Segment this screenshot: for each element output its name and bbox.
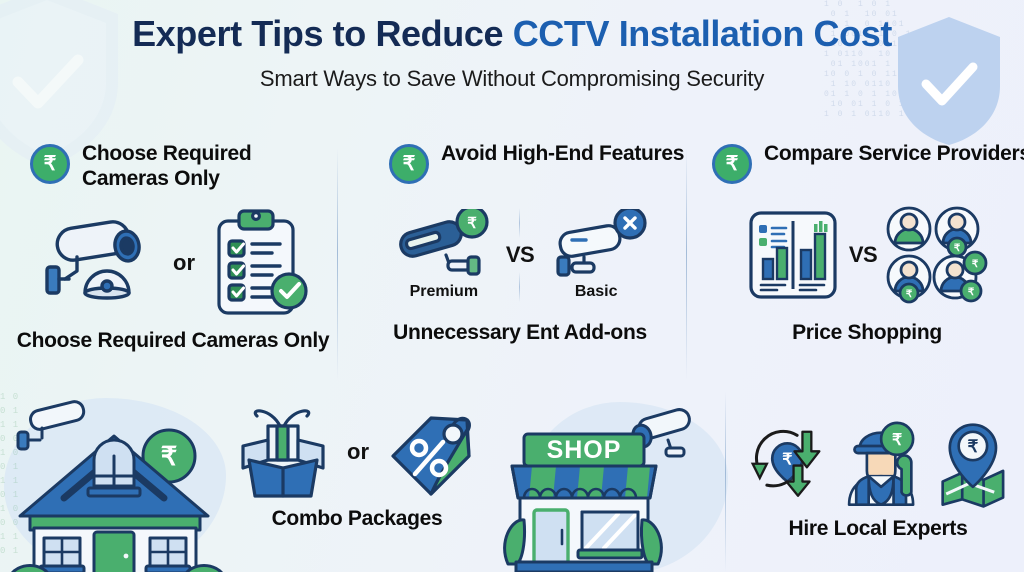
basic-camera-icon	[544, 209, 648, 281]
tip-1-heading: ₹ Choose Required Cameras Only	[8, 142, 338, 192]
comparison-chart-icon	[745, 207, 841, 303]
bullet-camera-icon	[35, 209, 163, 317]
rupee-coin-icon: ₹	[30, 144, 70, 184]
svg-text:₹: ₹	[906, 289, 913, 300]
tip-2-inner-divider	[519, 208, 520, 238]
infographic-canvas: 1 0 1 0 1 0 1 10 01 10 1 0 1101 1 0010 1…	[0, 0, 1024, 572]
combo-caption: Combo Packages	[232, 506, 482, 531]
technician-icon: ₹	[842, 410, 924, 514]
svg-text:₹: ₹	[968, 287, 975, 298]
combo-packages-block: or Combo Packages	[232, 406, 482, 531]
basic-camera-group: Basic	[544, 209, 648, 301]
premium-camera-icon: ₹	[392, 209, 496, 281]
combo-connector: or	[347, 439, 369, 465]
tip-2-title: Avoid High-End Features	[441, 142, 684, 167]
checklist-clipboard-icon	[205, 207, 311, 319]
premium-camera-group: ₹ Premium	[392, 209, 496, 301]
tip-column-avoid-high-end: ₹ Avoid High-End Features ₹	[355, 142, 685, 345]
svg-text:₹: ₹	[782, 452, 792, 469]
tip-3-artwork: VS	[702, 196, 1024, 314]
house-with-cctv-icon: ₹	[2, 398, 230, 572]
tip-3-heading: ₹ Compare Service Providers	[702, 142, 1024, 184]
tip-1-title: Choose Required Cameras Only	[82, 142, 338, 192]
basic-label: Basic	[575, 283, 618, 301]
tip-2-artwork: ₹ Premium VS	[355, 196, 685, 314]
svg-text:₹: ₹	[972, 259, 979, 270]
shop-sign-text: SHOP	[547, 436, 622, 464]
tip-2-inner-divider-2	[519, 272, 520, 302]
shop-with-cctv-icon: SHOP	[490, 396, 708, 572]
discount-tag-icon	[383, 406, 479, 498]
rupee-coin-icon: ₹	[712, 144, 752, 184]
cost-reduction-cycle-icon: ₹	[742, 410, 834, 514]
tip-1-caption: Choose Required Cameras Only	[8, 328, 338, 353]
svg-text:₹: ₹	[954, 243, 961, 254]
svg-text:₹: ₹	[467, 215, 477, 232]
premium-label: Premium	[410, 283, 478, 301]
hire-caption: Hire Local Experts	[742, 516, 1014, 541]
rupee-coin-icon: ₹	[389, 144, 429, 184]
tip-2-heading: ₹ Avoid High-End Features	[355, 142, 685, 184]
svg-text:₹: ₹	[892, 432, 902, 449]
provider-avatars-icon: ₹₹ ₹₹	[885, 205, 989, 305]
page-title-plain: Expert Tips to Reduce	[132, 13, 513, 54]
page-title: Expert Tips to Reduce CCTV Installation …	[0, 14, 1024, 54]
shop-with-cctv-block: SHOP	[490, 396, 708, 572]
tip-column-compare-providers: ₹ Compare Service Providers	[702, 142, 1024, 345]
tip-2-caption: Unnecessary Ent Add-ons	[355, 320, 685, 345]
hire-icons-row: ₹	[742, 410, 1014, 514]
svg-text:₹: ₹	[161, 441, 178, 471]
tip-3-connector: VS	[849, 242, 877, 268]
hire-local-experts-block: ₹	[742, 410, 1014, 541]
tip-column-choose-cameras: ₹ Choose Required Cameras Only	[8, 142, 338, 353]
header: Expert Tips to Reduce CCTV Installation …	[0, 14, 1024, 92]
location-pin-rupee-icon: ₹	[932, 410, 1014, 514]
combo-icons-row: or	[232, 406, 482, 498]
tip-2-connector: VS	[506, 242, 534, 268]
tip-1-artwork: or	[8, 204, 338, 322]
bottom-band: ₹ or	[0, 392, 1024, 572]
gift-box-icon	[235, 406, 333, 498]
page-title-accent: CCTV Installation Cost	[513, 13, 892, 54]
tip-3-title: Compare Service Providers	[764, 142, 1024, 167]
tip-1-connector: or	[173, 250, 195, 276]
svg-text:₹: ₹	[968, 437, 979, 456]
house-with-cctv-block: ₹	[2, 398, 230, 572]
page-subtitle: Smart Ways to Save Without Compromising …	[0, 66, 1024, 92]
tip-3-caption: Price Shopping	[702, 320, 1024, 345]
tips-columns: ₹ Choose Required Cameras Only	[0, 142, 1024, 392]
